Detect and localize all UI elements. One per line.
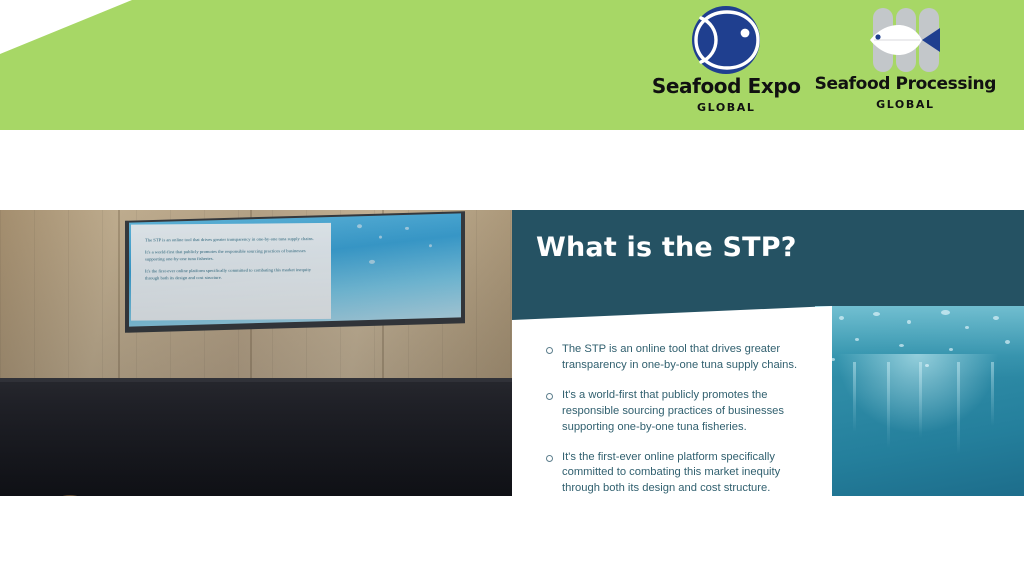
screen-underwater-image: The STP is an online tool that drives gr… (129, 213, 461, 326)
page-root: Seafood Expo GLOBAL Seafood Pro (0, 0, 1024, 567)
presentation-slide: What is the STP? (512, 210, 1024, 496)
screen-bullet-2: It's a world-first that publicly promote… (145, 247, 325, 263)
logo-seafood-processing-global[interactable]: Seafood Processing GLOBAL (815, 4, 996, 111)
logo-seafood-expo-global[interactable]: Seafood Expo GLOBAL (652, 4, 801, 114)
bullet-circle-icon (546, 347, 553, 354)
projection-screen: The STP is an online tool that drives gr… (125, 216, 465, 326)
water-light-glow (836, 354, 999, 434)
bullet-circle-icon (546, 455, 553, 462)
logo-lockups: Seafood Expo GLOBAL Seafood Pro (652, 4, 996, 114)
stage-floor (0, 378, 512, 496)
bullet-circle-icon (546, 393, 553, 400)
logo-processing-subtitle: GLOBAL (876, 98, 935, 111)
header-band: Seafood Expo GLOBAL Seafood Pro (0, 0, 1024, 130)
screen-projected-text: The STP is an online tool that drives gr… (145, 235, 325, 287)
screen-bullet-3: It's the first-ever online platform spec… (145, 266, 325, 282)
slide-bullet-text-1: The STP is an online tool that drives gr… (562, 342, 814, 374)
screen-white-panel: The STP is an online tool that drives gr… (131, 223, 331, 321)
slide-bullet-item: It's the first-ever online platform spec… (546, 450, 814, 496)
slide-bullet-item: It's a world-first that publicly promote… (546, 388, 814, 436)
slide-title: What is the STP? (536, 232, 797, 263)
header-diagonal-cut (0, 0, 140, 56)
logo-processing-title: Seafood Processing (815, 76, 996, 93)
slide-bullet-list: The STP is an online tool that drives gr… (546, 342, 814, 496)
screen-bullet-1: The STP is an online tool that drives gr… (145, 235, 325, 244)
fish-bars-icon (864, 4, 946, 76)
floor-highlight (0, 378, 512, 382)
wall-seam (118, 210, 120, 378)
logo-expo-title: Seafood Expo (652, 76, 801, 96)
conference-panel-photo: The STP is an online tool that drives gr… (0, 210, 512, 496)
white-spacer (0, 130, 1024, 210)
slide-bullet-text-3: It's the first-ever online platform spec… (562, 450, 814, 496)
content-band: The STP is an online tool that drives gr… (0, 210, 1024, 496)
underwater-ocean-photo (815, 306, 1024, 496)
logo-expo-subtitle: GLOBAL (697, 101, 756, 114)
fish-circle-icon (688, 4, 764, 76)
slide-bullet-text-2: It's a world-first that publicly promote… (562, 388, 814, 436)
slide-bullet-item: The STP is an online tool that drives gr… (546, 342, 814, 374)
